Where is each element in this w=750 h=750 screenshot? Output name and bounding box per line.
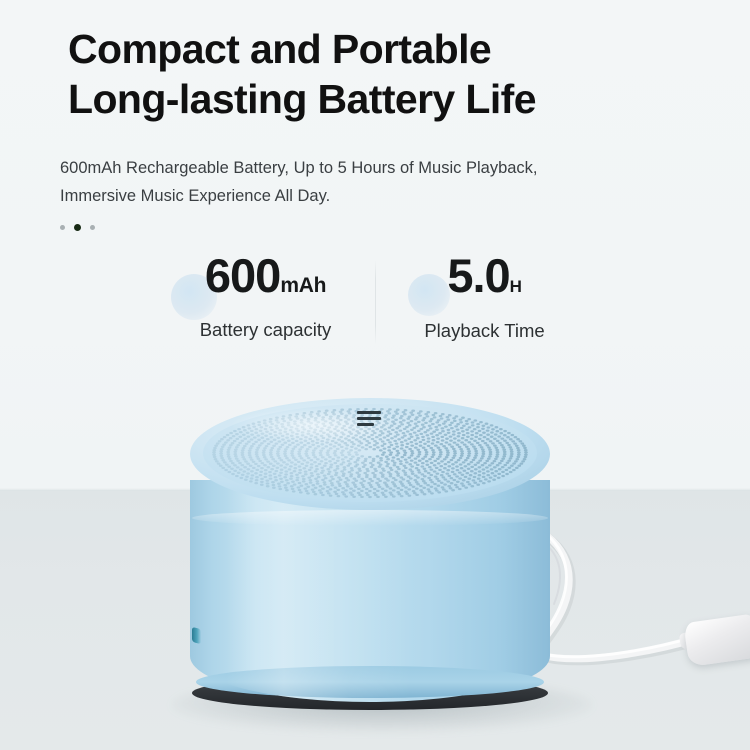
spec-playback-unit: H: [510, 277, 522, 296]
brand-logo-bar: [357, 423, 374, 426]
usb-connector: [683, 613, 750, 667]
spec-battery-label: Battery capacity: [157, 318, 375, 342]
subtitle-line-2: Immersive Music Experience All Day.: [60, 182, 720, 210]
status-indicator-light: [192, 627, 201, 645]
carousel-dots[interactable]: [60, 224, 95, 231]
spec-battery-value-group: 600mAh: [157, 248, 375, 314]
carousel-dot-3[interactable]: [90, 225, 95, 230]
speaker-base-plate: [196, 666, 544, 698]
carousel-dot-2-active[interactable]: [74, 224, 81, 231]
spec-playback-time: 5.0H Playback Time: [376, 248, 594, 343]
brand-logo-bar: [357, 411, 381, 414]
brand-logo-bar: [357, 417, 381, 420]
headline-line-2: Long-lasting Battery Life: [68, 74, 708, 124]
brand-logo-icon: [357, 411, 381, 429]
spec-strip: 600mAh Battery capacity 5.0H Playback Ti…: [0, 248, 750, 348]
subtitle: 600mAh Rechargeable Battery, Up to 5 Hou…: [60, 154, 720, 210]
product-feature-page: Compact and Portable Long-lasting Batter…: [0, 0, 750, 750]
spec-playback-value: 5.0: [447, 249, 509, 302]
spec-battery-unit: mAh: [280, 274, 326, 297]
spec-battery-value: 600: [205, 249, 280, 302]
product-image: [0, 360, 750, 750]
spec-playback-label: Playback Time: [376, 319, 594, 343]
subtitle-line-1: 600mAh Rechargeable Battery, Up to 5 Hou…: [60, 154, 720, 182]
spec-battery-capacity: 600mAh Battery capacity: [157, 248, 375, 342]
carousel-dot-1[interactable]: [60, 225, 65, 230]
headline-line-1: Compact and Portable: [68, 24, 708, 74]
spec-playback-value-group: 5.0H: [376, 248, 594, 315]
headline: Compact and Portable Long-lasting Batter…: [68, 24, 708, 124]
